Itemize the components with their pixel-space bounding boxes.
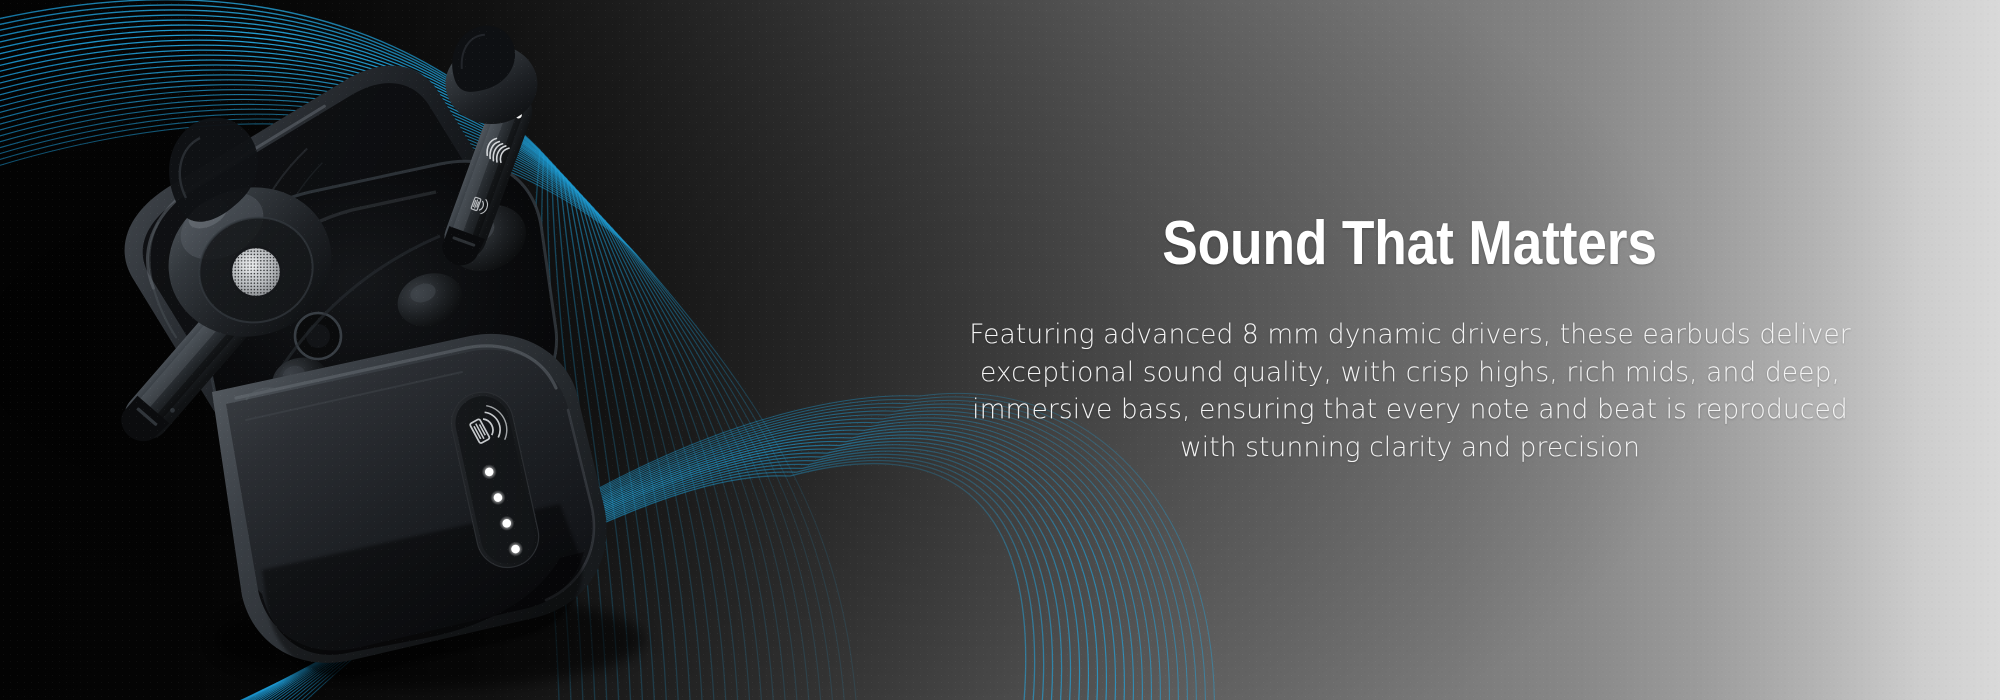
description-line-4: with stunning clarity and precision <box>969 429 1851 467</box>
page-title: Sound That Matters <box>1163 212 1658 276</box>
product-banner: Sound That Matters Featuring advanced 8 … <box>0 0 2000 700</box>
product-description: Featuring advanced 8 mm dynamic drivers,… <box>969 316 1851 467</box>
description-line-2: exceptional sound quality, with crisp hi… <box>969 354 1851 392</box>
description-line-3: immersive bass, ensuring that every note… <box>969 391 1851 429</box>
description-line-1: Featuring advanced 8 mm dynamic drivers,… <box>969 316 1851 354</box>
copy-block: Sound That Matters Featuring advanced 8 … <box>820 0 2000 700</box>
